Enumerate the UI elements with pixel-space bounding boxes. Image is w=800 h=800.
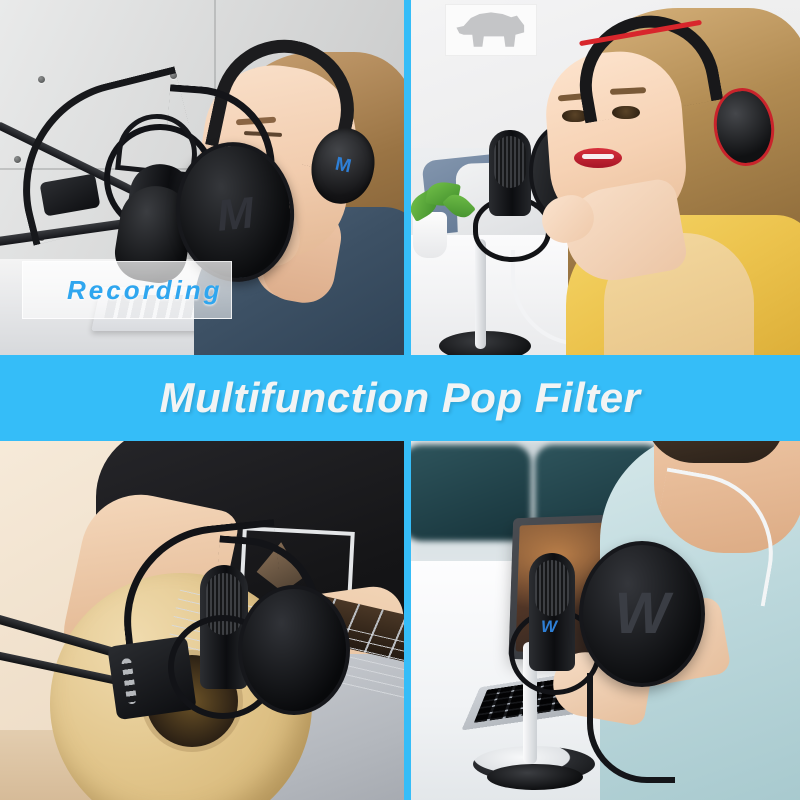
chatting-scene [411, 0, 800, 355]
caption-recording-label: Recording [67, 275, 223, 306]
panel-gaming: W W Gaming [411, 441, 800, 800]
product-feature-poster: M Recording [0, 0, 800, 800]
banner-title: Multifunction Pop Filter [160, 374, 641, 422]
vertical-divider-top [404, 0, 411, 355]
panel-recording: M Recording [0, 0, 404, 355]
panel-podcasting: Podcasting [0, 441, 404, 800]
microphone-base-rubber [487, 764, 583, 790]
wall-bolt [14, 156, 21, 163]
podcasting-scene [0, 441, 404, 800]
person-lips [574, 148, 622, 168]
wall-bolt [38, 76, 45, 83]
condenser-microphone [489, 130, 531, 216]
pop-filter-logo: W [579, 573, 705, 655]
condenser-microphone [529, 553, 575, 671]
pop-filter [238, 585, 350, 715]
headphone-brand-logo: M [330, 153, 356, 179]
panel-chatting: Chatting [411, 0, 800, 355]
microphone-brand-logo: W [541, 617, 557, 637]
caption-recording: Recording [22, 261, 232, 319]
microphone-stand-pole [475, 239, 486, 349]
vertical-divider-bottom [404, 441, 411, 800]
center-banner: Multifunction Pop Filter [0, 355, 800, 441]
gaming-scene: W W [411, 441, 800, 800]
